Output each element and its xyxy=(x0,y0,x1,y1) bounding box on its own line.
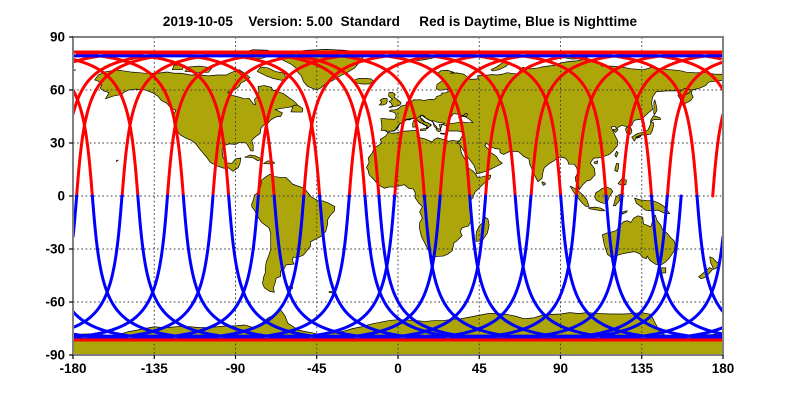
y-tick-label: 60 xyxy=(50,83,65,98)
x-tick-label: -45 xyxy=(307,361,327,376)
y-tick-label: 0 xyxy=(57,189,65,204)
x-tick-label: 135 xyxy=(630,361,653,376)
y-tick-label: 30 xyxy=(50,136,65,151)
x-tick-label: 45 xyxy=(472,361,487,376)
landmass xyxy=(369,146,370,147)
ground-track-world-map xyxy=(0,0,800,400)
y-tick-label: -60 xyxy=(45,295,65,310)
y-tick-label: 90 xyxy=(50,30,65,45)
x-tick-label: -90 xyxy=(226,361,246,376)
x-tick-label: -180 xyxy=(59,361,86,376)
landmass xyxy=(440,133,445,134)
x-tick-label: 180 xyxy=(712,361,735,376)
landmass xyxy=(420,129,425,131)
y-tick-label: -30 xyxy=(45,242,65,257)
x-tick-label: 90 xyxy=(553,361,568,376)
x-tick-label: 0 xyxy=(394,361,402,376)
x-tick-label: -135 xyxy=(141,361,168,376)
